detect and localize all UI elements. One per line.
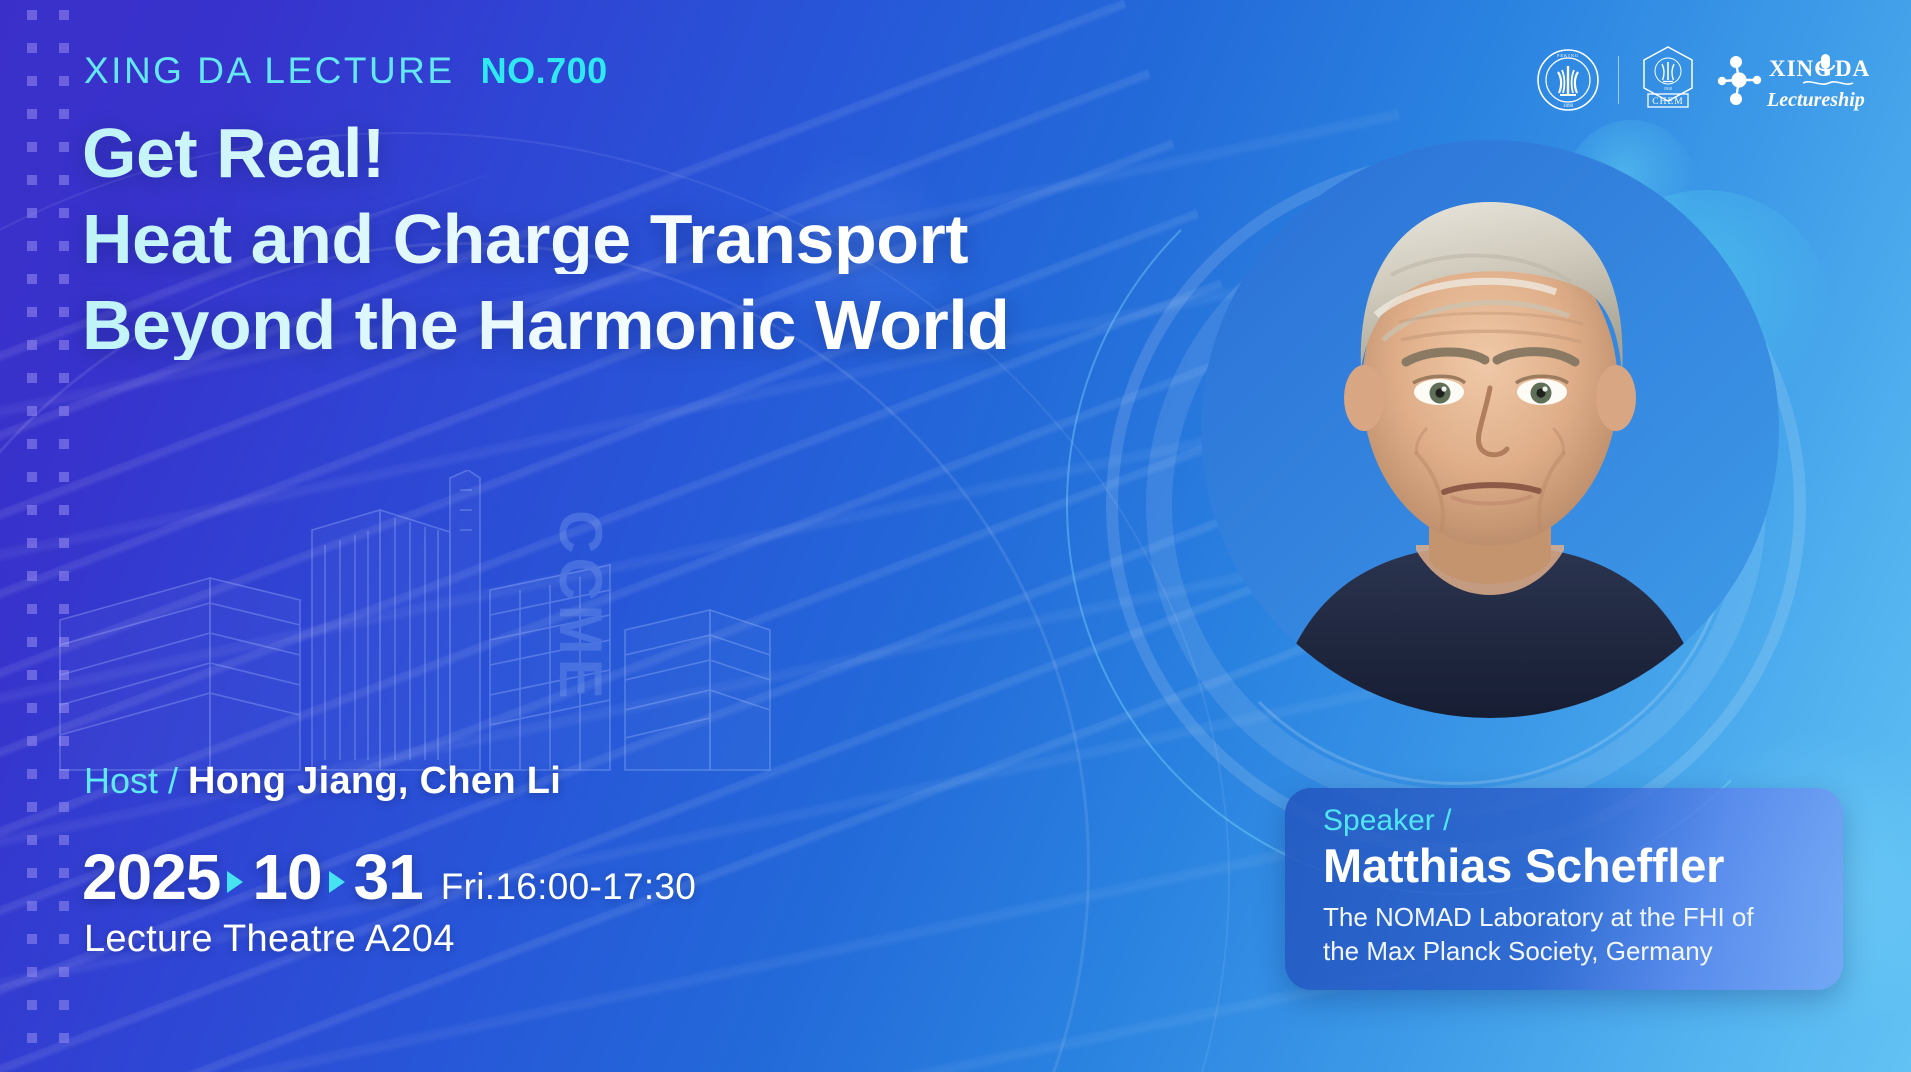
- svg-text:1910: 1910: [1664, 86, 1672, 91]
- speaker-photo: [1201, 140, 1779, 718]
- lecture-poster: XING DA LECTURE NO.700 1898 PEKING 1910: [0, 0, 1911, 1072]
- lecture-number: NO.700: [481, 50, 608, 92]
- speaker-card: Speaker / Matthias Scheffler The NOMAD L…: [1285, 788, 1843, 990]
- series-header: XING DA LECTURE NO.700: [84, 50, 608, 92]
- svg-text:CCME: CCME: [547, 510, 614, 703]
- svg-text:PEKING: PEKING: [1557, 53, 1579, 58]
- date-separator-triangle-2: [329, 871, 345, 893]
- speaker-name: Matthias Scheffler: [1323, 838, 1813, 893]
- event-day: 31: [354, 840, 423, 914]
- event-year: 2025: [82, 840, 220, 914]
- svg-text:DA: DA: [1835, 56, 1870, 81]
- ccme-watermark-text: CCME: [547, 510, 614, 703]
- host-names: Hong Jiang, Chen Li: [188, 760, 561, 803]
- host-line: Host / Hong Jiang, Chen Li: [84, 760, 561, 803]
- series-label: XING DA LECTURE: [84, 50, 455, 92]
- speaker-role-label: Speaker /: [1323, 804, 1813, 838]
- event-month: 10: [252, 840, 321, 914]
- event-date-line: 2025 10 31 Fri.16:00-17:30: [82, 840, 696, 914]
- date-separator-triangle-1: [227, 871, 243, 893]
- speaker-affiliation-line-1: The NOMAD Laboratory at the FHI of: [1323, 901, 1813, 934]
- event-time: Fri.16:00-17:30: [441, 866, 696, 908]
- ccme-building-watermark: CCME: [50, 470, 790, 800]
- left-dot-pattern: [0, 0, 72, 1072]
- host-label: Host /: [84, 760, 178, 802]
- event-venue: Lecture Theatre A204: [84, 918, 455, 961]
- speaker-affiliation-line-2: the Max Planck Society, Germany: [1323, 935, 1813, 968]
